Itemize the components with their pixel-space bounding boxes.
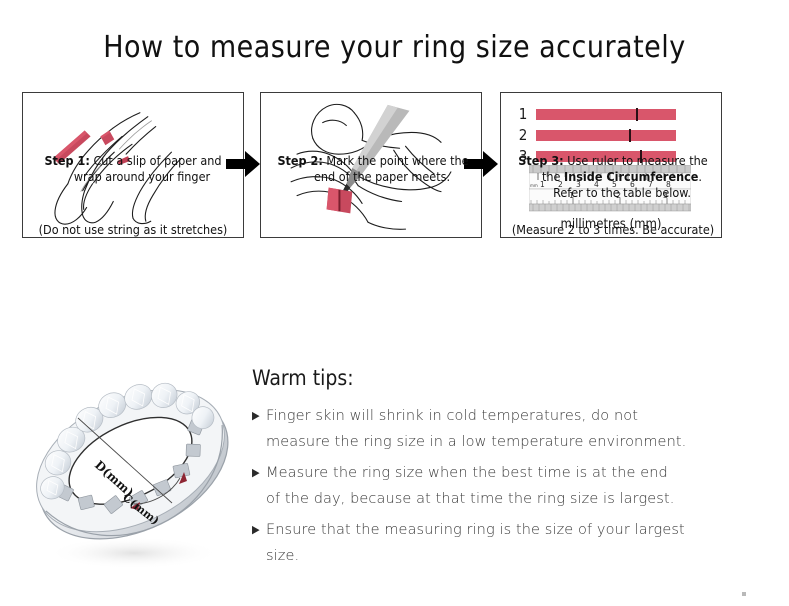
step-1-line1: Cut a slip of paper and bbox=[93, 153, 221, 168]
triangle-right-bullet-icon-1: ▶ bbox=[252, 403, 266, 429]
tip-3-text: Ensure that the measuring ring is the si… bbox=[266, 517, 685, 569]
page-title: How to measure your ring size accurately bbox=[0, 30, 789, 65]
step-2-line1: Mark the point where the bbox=[326, 153, 468, 168]
step-3-line2-end: . bbox=[698, 169, 702, 184]
strip-mark-1 bbox=[636, 108, 638, 121]
warm-tips-section: Warm tips: ▶ Finger skin will shrink in … bbox=[252, 366, 772, 574]
strip-number-1: 1 bbox=[515, 107, 531, 121]
step-3-line3: Refer to the table below. bbox=[488, 185, 738, 201]
warm-tips-heading: Warm tips: bbox=[252, 366, 772, 390]
step-2-line2: end of the paper meets. bbox=[248, 169, 498, 185]
step-2-caption: Step 2: Mark the point where the end of … bbox=[248, 153, 498, 185]
tip-2-line1: Measure the ring size when the best time… bbox=[266, 465, 668, 481]
paper-strip-row-1: 1 bbox=[515, 107, 676, 121]
image-artifact-speck bbox=[742, 592, 746, 596]
steps-section: 1 2 3 bbox=[0, 92, 789, 342]
step-1-note: (Do not use string as it stretches) bbox=[8, 222, 258, 237]
paper-band-shape bbox=[327, 188, 353, 214]
step-1-line2: wrap around your finger bbox=[8, 169, 258, 185]
tip-2-text: Measure the ring size when the best time… bbox=[266, 460, 674, 512]
paper-strip-row-2: 2 bbox=[515, 128, 676, 142]
step-1-label: Step 1: bbox=[44, 153, 89, 168]
strip-number-2: 2 bbox=[515, 128, 531, 142]
tip-1-line2: measure the ring size in a low temperatu… bbox=[266, 434, 686, 450]
tip-item-2: ▶ Measure the ring size when the best ti… bbox=[252, 460, 772, 512]
tip-1-line1: Finger skin will shrink in cold temperat… bbox=[266, 408, 638, 424]
step-3-emphasis: Inside Circumference bbox=[564, 169, 698, 184]
step-3-note: (Measure 2 to 3 times. Be accurate) bbox=[488, 222, 738, 237]
triangle-right-bullet-icon-2: ▶ bbox=[252, 460, 266, 486]
diamond-eternity-ring-photo: D(mm) C(mm) bbox=[22, 358, 247, 583]
step-3-caption: Step 3: Use ruler to measure the the Ins… bbox=[488, 153, 738, 201]
ring-diagram: D(mm) C(mm) bbox=[22, 358, 247, 583]
tip-1-text: Finger skin will shrink in cold temperat… bbox=[266, 403, 686, 455]
tip-item-1: ▶ Finger skin will shrink in cold temper… bbox=[252, 403, 772, 455]
step-3-line2-prefix: the bbox=[542, 169, 564, 184]
tip-2-line2: of the day, because at that time the rin… bbox=[266, 491, 674, 507]
step-1-caption: Step 1: Cut a slip of paper and wrap aro… bbox=[8, 153, 258, 185]
tip-item-3: ▶ Ensure that the measuring ring is the … bbox=[252, 517, 772, 569]
step-3-line1: Use ruler to measure the bbox=[567, 153, 707, 168]
step-3-label: Step 3: bbox=[518, 153, 563, 168]
tip-3-line2: size. bbox=[266, 548, 299, 564]
step-2-label: Step 2: bbox=[277, 153, 322, 168]
paper-strip-2 bbox=[536, 130, 676, 141]
tip-3-line1: Ensure that the measuring ring is the si… bbox=[266, 522, 685, 538]
strip-mark-2 bbox=[629, 129, 631, 142]
triangle-right-bullet-icon-3: ▶ bbox=[252, 517, 266, 543]
paper-strip-1 bbox=[536, 109, 676, 120]
ring-size-guide-page: How to measure your ring size accurately bbox=[0, 0, 789, 606]
